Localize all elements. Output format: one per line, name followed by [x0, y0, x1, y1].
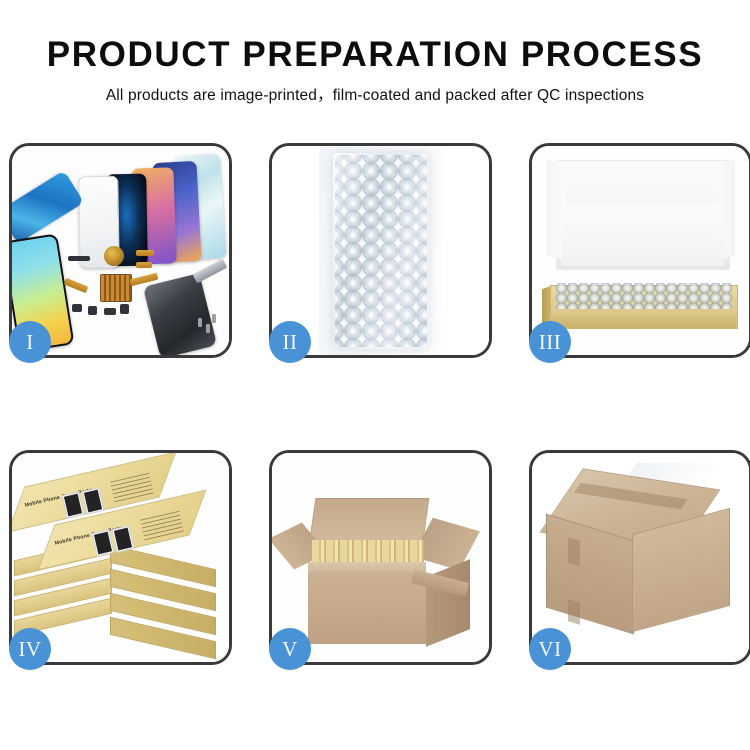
step-panel-5: V: [269, 450, 492, 665]
flex-cable-icon: [64, 278, 89, 293]
adhesive-sheet-icon: [12, 170, 84, 244]
step-panel-1: I: [9, 143, 232, 358]
step-image-2: [272, 146, 489, 355]
sealed-carton-scene: [532, 453, 749, 662]
chip-grid-icon: [100, 274, 132, 302]
step-image-3: [532, 146, 749, 355]
small-part-icon: [68, 256, 90, 261]
header: PRODUCT PREPARATION PROCESS All products…: [0, 0, 750, 105]
step-badge-5: V: [269, 628, 311, 670]
tape-strip-left-upper: [568, 537, 580, 567]
speaker-coil-icon: [104, 246, 124, 266]
step-badge-6: VI: [529, 628, 571, 670]
stacked-boxes-scene: Mobile Phone Spare Parts Mobile Phone Sp…: [12, 453, 229, 662]
tray-bubble-contents: [556, 283, 732, 309]
carton-right-face: [426, 559, 470, 647]
flex-cable-icon: [136, 262, 152, 268]
product-preparation-infographic: PRODUCT PREPARATION PROCESS All products…: [0, 0, 750, 750]
screw-icon: [198, 318, 202, 327]
foam-sheet-icon: [562, 204, 724, 266]
small-part-icon: [88, 306, 97, 315]
page-title: PRODUCT PREPARATION PROCESS: [0, 37, 750, 74]
step-image-6: [532, 453, 749, 662]
step-badge-3: III: [529, 321, 571, 363]
page-subtitle: All products are image-printed，film-coat…: [0, 83, 750, 105]
step-badge-1: I: [9, 321, 51, 363]
step-badge-4: IV: [9, 628, 51, 670]
step-panel-6: VI: [529, 450, 750, 665]
small-part-icon: [72, 304, 82, 312]
bubble-pouch-icon: [333, 153, 429, 349]
bubble-wrap-scene: [272, 146, 489, 355]
small-part-icon: [104, 308, 116, 315]
flex-cable-icon: [136, 250, 154, 256]
tape-strip-left-lower: [568, 599, 580, 625]
screw-icon: [206, 324, 210, 333]
carton-front-face: [308, 572, 426, 644]
carton-flap-back: [309, 498, 430, 546]
tray-front: [550, 315, 736, 329]
step-image-5: [272, 453, 489, 662]
step-image-1: [12, 146, 229, 355]
bubble-pattern: [335, 155, 427, 347]
carton-filling-scene: [272, 453, 489, 662]
phone-parts-scene: [12, 146, 229, 355]
step-panel-2: II: [269, 143, 492, 358]
step-image-4: Mobile Phone Spare Parts Mobile Phone Sp…: [12, 453, 229, 662]
screw-icon: [212, 314, 216, 323]
phone-housing-icon: [143, 273, 217, 355]
step-panel-3: III: [529, 143, 750, 358]
small-part-icon: [120, 304, 129, 314]
tweezer-icon: [193, 259, 228, 284]
step-panel-4: Mobile Phone Spare Parts Mobile Phone Sp…: [9, 450, 232, 665]
steps-grid: I II: [9, 143, 742, 665]
inner-box-scene: [532, 146, 749, 355]
step-badge-2: II: [269, 321, 311, 363]
